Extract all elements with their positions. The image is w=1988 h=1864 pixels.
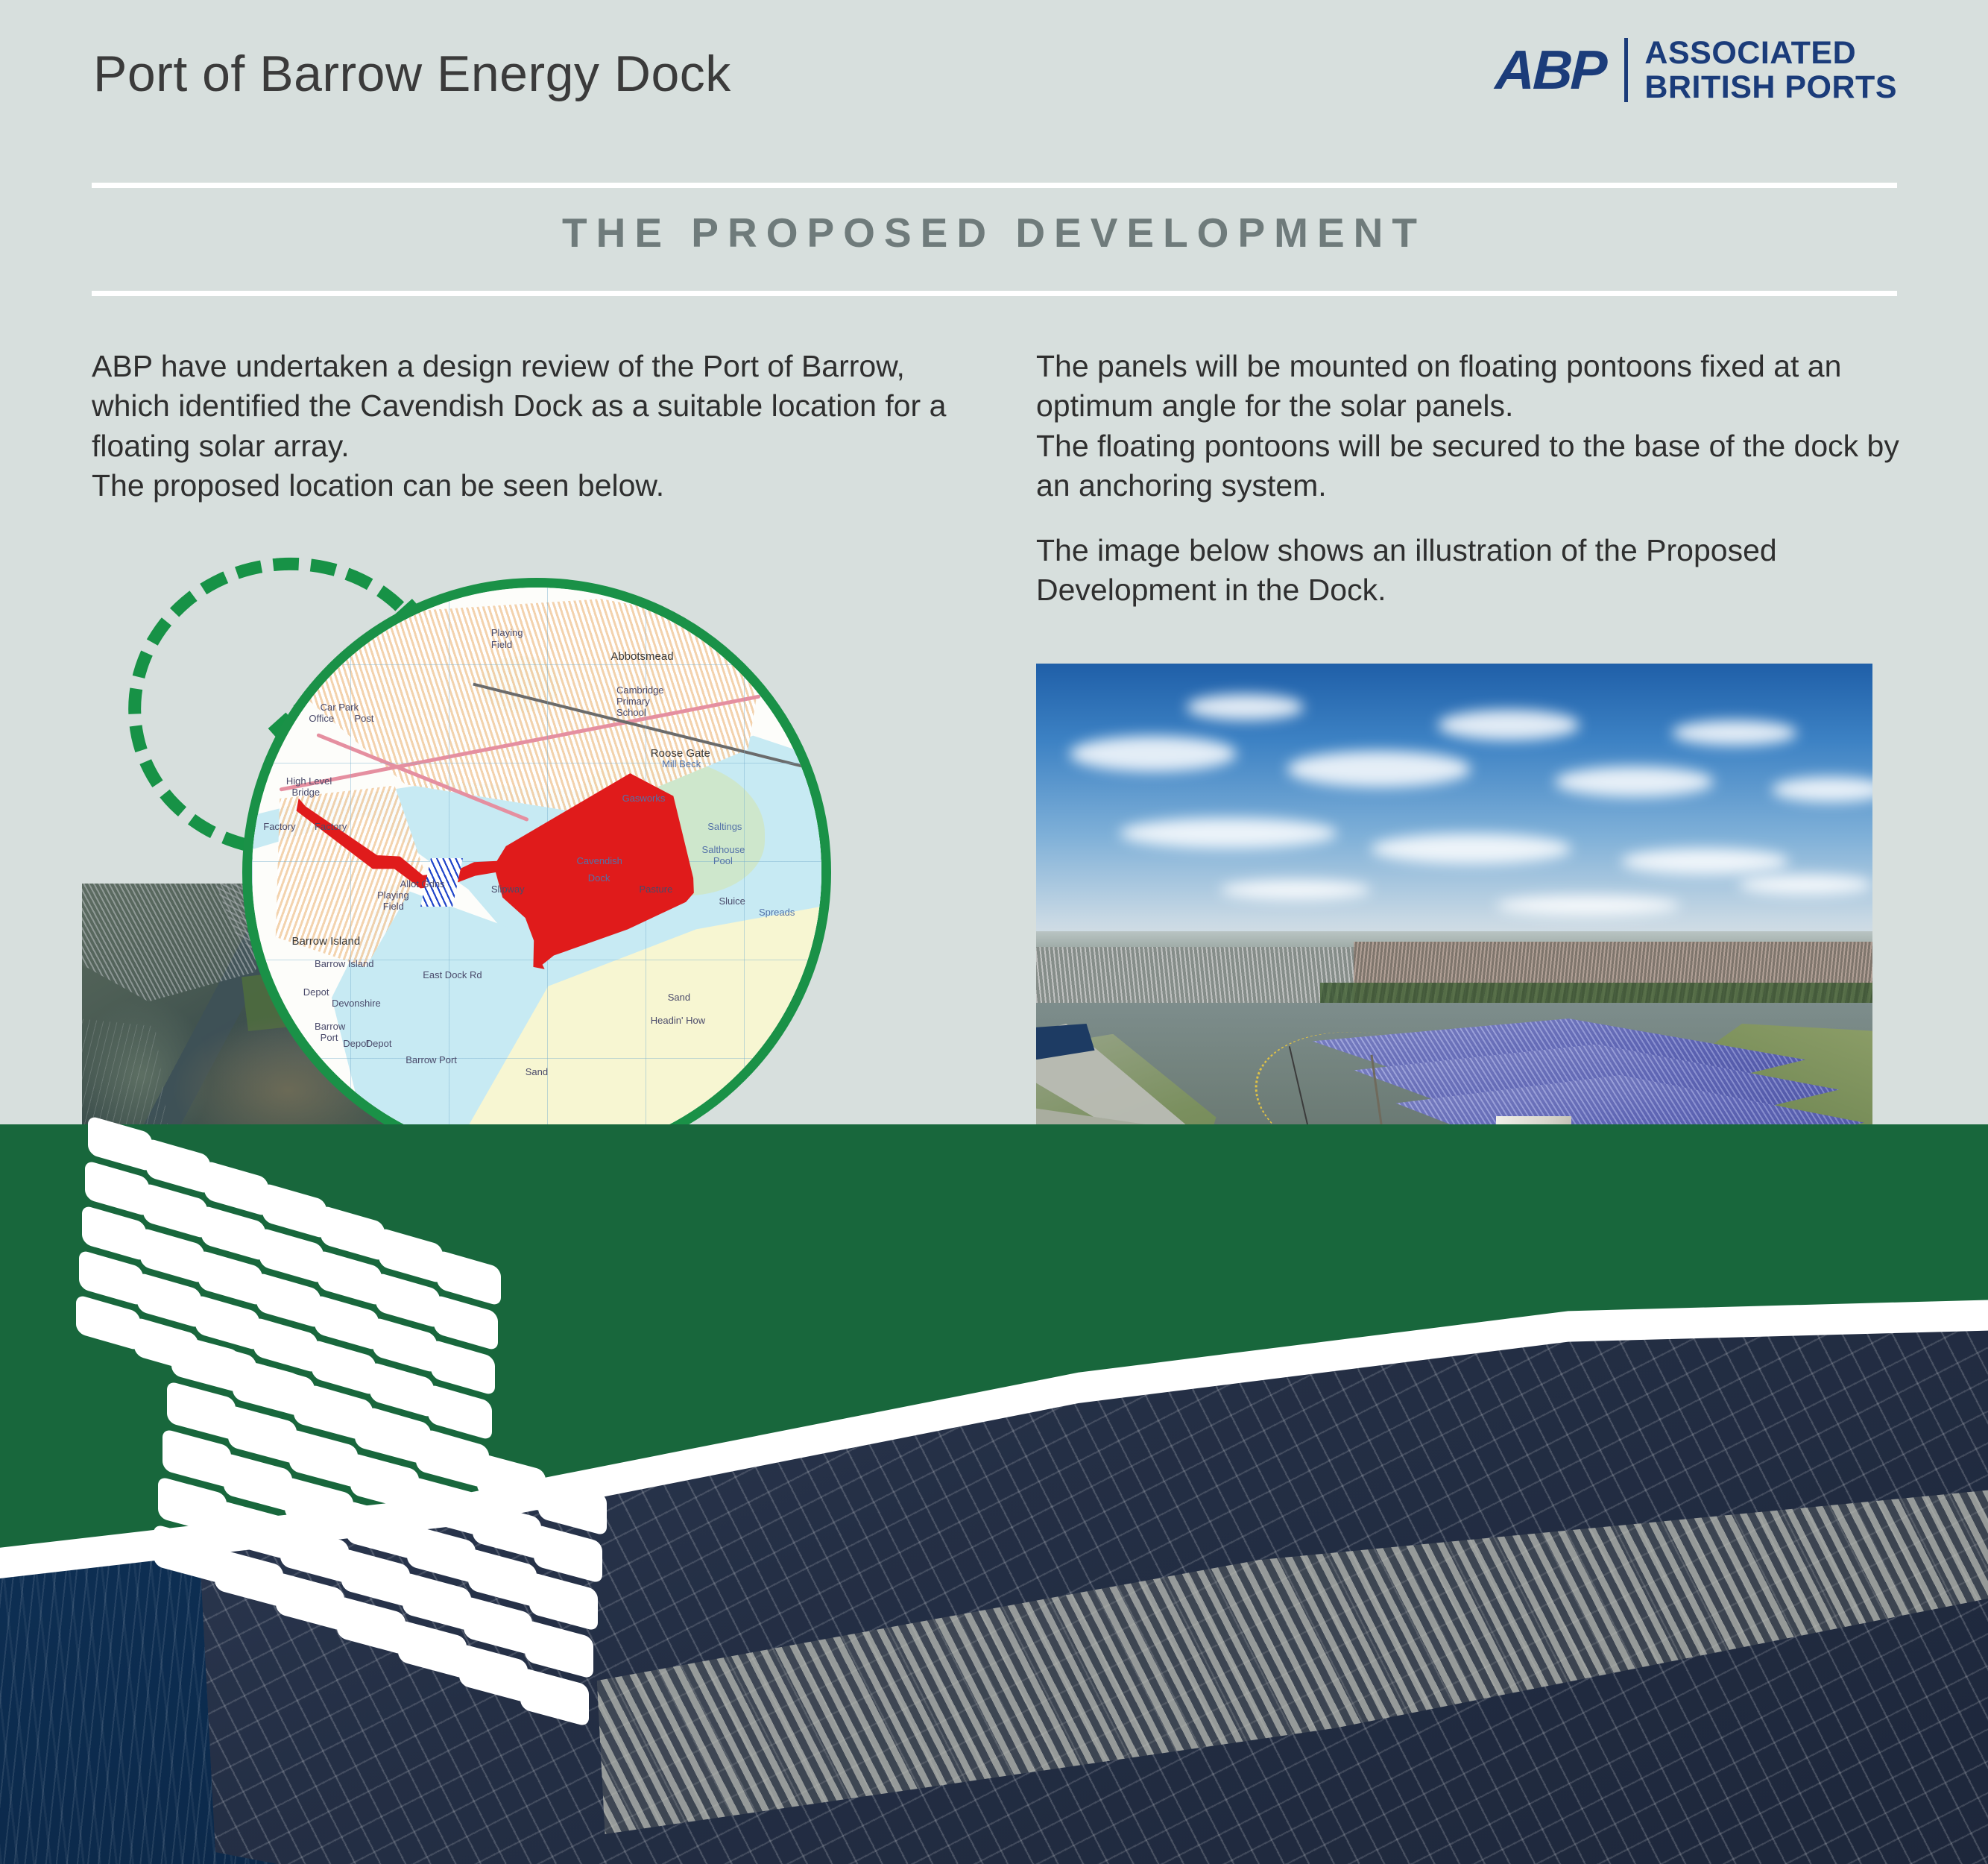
map-label: Depot — [343, 1038, 369, 1049]
map-label: Sand — [526, 1066, 548, 1077]
abp-logo-divider — [1624, 38, 1628, 102]
banner-panel-cell — [154, 1524, 222, 1584]
map-label: Pasture — [640, 884, 673, 895]
cloud — [1287, 751, 1471, 787]
banner-panel-cell — [337, 1596, 406, 1656]
map-label: Factory — [263, 821, 295, 832]
banner-panel-cell — [215, 1548, 283, 1608]
cloud — [1672, 720, 1797, 746]
banner-panel-cell — [459, 1643, 528, 1704]
map-label: Car Park — [321, 702, 359, 713]
divider-bottom — [92, 291, 1897, 296]
photo-sky — [1036, 664, 1872, 942]
paragraph: The image below shows an illustration of… — [1036, 531, 1931, 611]
cloud — [1187, 694, 1304, 720]
abp-logo-line2: BRITISH PORTS — [1644, 70, 1897, 104]
abp-logo: ABP ASSOCIATED BRITISH PORTS — [1495, 36, 1897, 104]
map-label: Barrow Island — [291, 935, 360, 948]
text-column-right: The panels will be mounted on floating p… — [1036, 347, 1931, 611]
map-label: Allot Gdns — [400, 878, 445, 890]
map-label: Field — [491, 639, 512, 650]
map-label: Salthouse — [702, 844, 745, 855]
map-label: Playing — [377, 890, 409, 901]
banner-panel-graphic — [82, 1096, 827, 1864]
cloud — [1621, 848, 1788, 875]
abp-logo-mark: ABP — [1495, 42, 1606, 98]
map-label: East Dock Rd — [423, 969, 482, 980]
map-label: Field — [383, 901, 404, 912]
paragraph: ABP have undertaken a design review of t… — [92, 347, 979, 466]
map-label: Primary — [616, 696, 650, 707]
cloud — [1070, 736, 1237, 772]
map-label: High Level — [286, 775, 332, 787]
map-label: Barrow — [315, 1021, 345, 1032]
map-label: Playing — [491, 627, 523, 638]
map-label: Gasworks — [622, 793, 666, 804]
map-label: Spreads — [759, 907, 795, 918]
divider-top — [92, 183, 1897, 188]
map-label: Barrow Port — [406, 1054, 457, 1065]
abp-logo-wordmark: ASSOCIATED BRITISH PORTS — [1644, 36, 1897, 105]
map-label: School — [616, 707, 646, 718]
map-label: Bridge — [291, 787, 320, 798]
banner-panel-cell — [276, 1572, 344, 1632]
paragraph: The proposed location can be seen below. — [92, 466, 979, 506]
map-label: Port — [321, 1032, 338, 1043]
map-label: Post — [355, 713, 374, 724]
banner-panel-cell — [520, 1667, 589, 1728]
map-circle: AbbotsmeadRoose GateBarrow IslandCavendi… — [242, 578, 831, 1167]
section-heading: THE PROPOSED DEVELOPMENT — [0, 209, 1988, 256]
cloud — [1371, 834, 1571, 864]
map-label: Barrow Island — [315, 958, 373, 969]
bottom-banner — [0, 1096, 1988, 1864]
cloud — [1496, 895, 1680, 916]
map-label: Cavendish — [576, 855, 622, 866]
banner-panel-cell — [398, 1619, 467, 1680]
map-label: Sand — [668, 992, 690, 1003]
page-header: Port of Barrow Energy Dock ABP ASSOCIATE… — [0, 0, 1988, 171]
map-label: Depot — [303, 986, 329, 998]
map-label: Depot — [366, 1038, 392, 1049]
map-label: Headin' How — [651, 1015, 705, 1026]
cloud — [1120, 818, 1337, 848]
map-label: Sluice — [719, 895, 745, 907]
map-label: Slipway — [491, 884, 525, 895]
map-label: Dock — [588, 872, 610, 884]
abp-logo-line1: ASSOCIATED — [1644, 36, 1897, 70]
map-label: Pool — [713, 855, 733, 866]
map-label: Devonshire — [332, 998, 381, 1009]
map-label: Office — [309, 713, 334, 724]
text-column-left: ABP have undertaken a design review of t… — [92, 347, 979, 506]
cloud — [1555, 766, 1714, 797]
map-label: Mill Beck — [662, 758, 701, 769]
page-title: Port of Barrow Energy Dock — [93, 45, 731, 103]
cloud — [1220, 880, 1371, 901]
map-label: Factory — [315, 821, 347, 832]
map-label: Abbotsmead — [610, 650, 673, 663]
location-figure: AbbotsmeadRoose GateBarrow IslandCavendi… — [82, 582, 984, 1178]
map-label: Cambridge — [616, 684, 664, 696]
map-label: Saltings — [707, 821, 742, 832]
paragraph: The floating pontoons will be secured to… — [1036, 426, 1931, 506]
paragraph: The panels will be mounted on floating p… — [1036, 347, 1931, 426]
